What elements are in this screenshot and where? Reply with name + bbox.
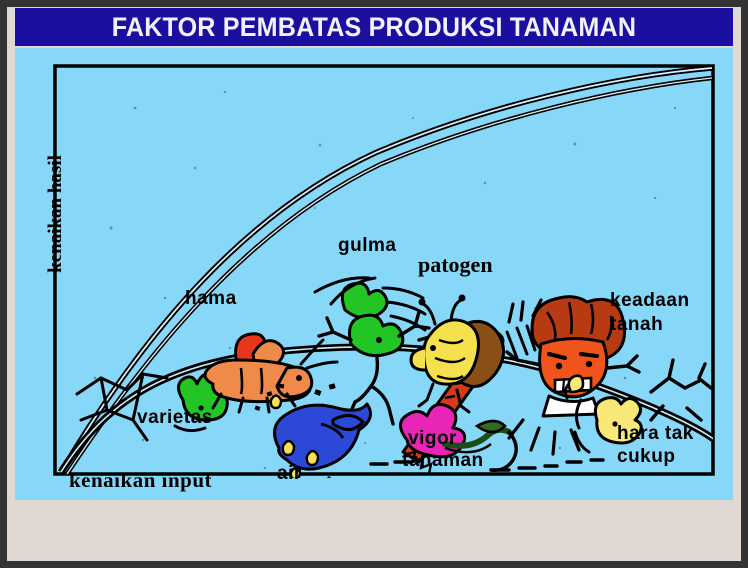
patogen-illustration [411,295,535,413]
label-air: air [277,463,302,485]
air-illustration [254,384,370,496]
label-hara-line2: cukup [617,446,675,468]
label-patogen: patogen [418,252,493,278]
slide-title-bar: FAKTOR PEMBATAS PRODUKSI TANAMAN [15,8,733,46]
label-keadaan-tanah-line1: keadaan [610,290,690,312]
label-vigor-line2: tanaman [402,450,484,472]
figure-canvas: hama gulma patogen keadaan tanah varieta… [15,48,733,500]
x-axis-label: kenaikan input [69,468,212,493]
slide-frame: FAKTOR PEMBATAS PRODUKSI TANAMAN [7,7,741,561]
label-keadaan-tanah-line2: tanah [610,314,663,336]
y-axis-label: kenaikan hasil [45,139,67,289]
label-hara-line1: hara tak [617,423,694,445]
label-vigor-line1: vigor [408,428,457,450]
label-hama: hama [185,288,237,310]
label-gulma: gulma [338,235,396,257]
label-varietas: varietas [137,407,213,429]
page-title: FAKTOR PEMBATAS PRODUKSI TANAMAN [112,12,636,43]
